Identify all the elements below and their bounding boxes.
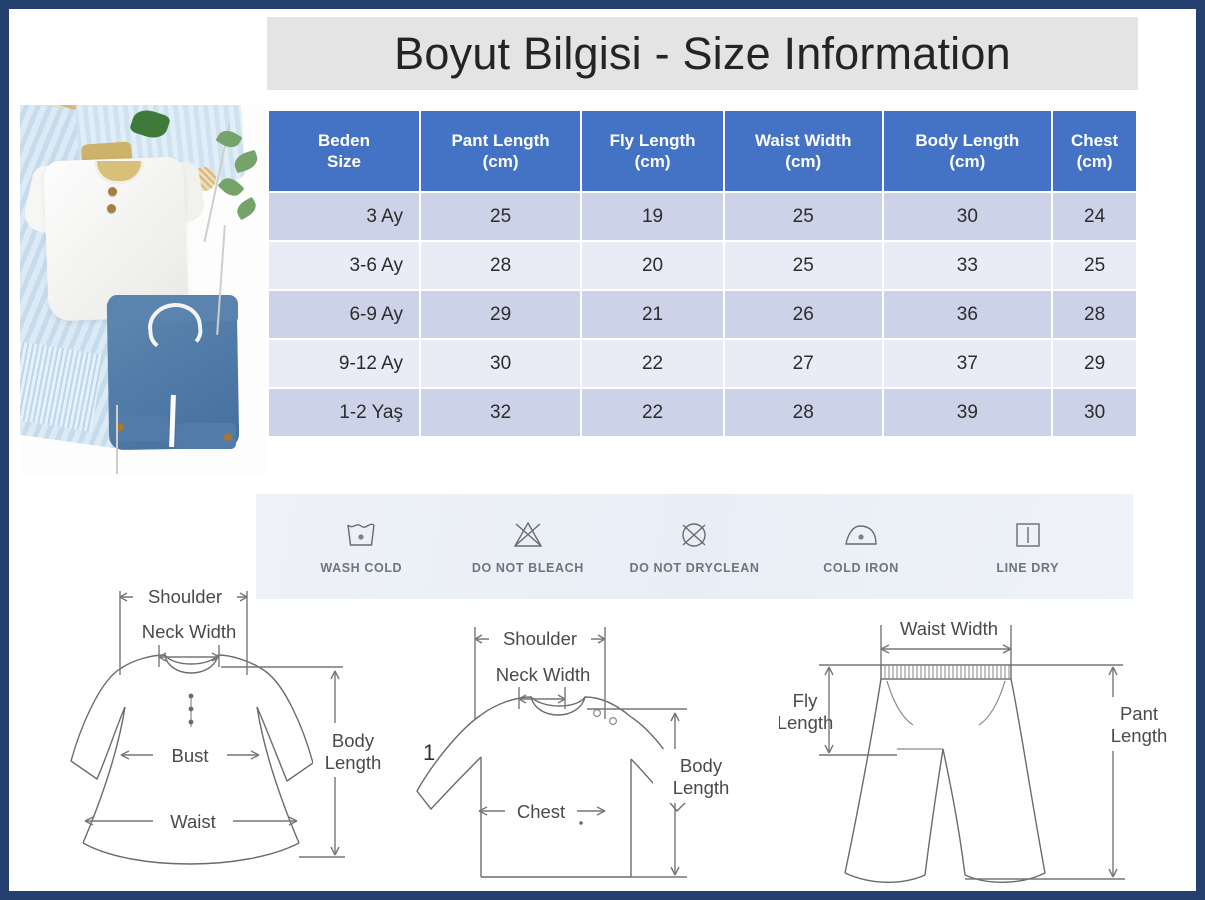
neck-width-dimension: Neck Width [496,664,591,709]
shirt-outline [417,697,693,877]
column-header-chest: Chest (cm) [1053,111,1136,191]
fly-length-dimension: Fly Length [779,665,897,755]
wash-cold-icon [341,518,381,552]
cell-size: 3 Ay [269,193,419,240]
size-chart-page: Boyut Bilgisi - Size Information [9,9,1196,891]
cell-chest: 25 [1053,242,1136,289]
label-body-length-line1: Body [332,730,375,751]
cell-waist-width: 26 [725,291,882,338]
cell-waist-width: 25 [725,193,882,240]
cell-chest: 29 [1053,340,1136,387]
cell-chest: 28 [1053,291,1136,338]
table-row: 3-6 Ay 28 20 25 33 25 [269,242,1136,289]
cell-size: 1-2 Yaş [269,389,419,436]
cell-fly-length: 21 [582,291,723,338]
shorts-button [224,433,232,441]
care-item-do-not-dryclean: DO NOT DRYCLEAN [619,518,769,575]
column-header-body-length: Body Length (cm) [884,111,1052,191]
decor-line [116,405,118,474]
cell-fly-length: 22 [582,389,723,436]
pants-measurement-diagram: Waist Width Fly Length Pant Length [779,607,1191,891]
cell-body-length: 33 [884,242,1052,289]
care-item-wash-cold: WASH COLD [286,518,436,575]
label-neck-width: Neck Width [142,621,237,642]
neck-width-dimension: Neck Width [142,621,237,667]
label-chest: Chest [517,801,565,822]
blanket-fringe [20,340,104,431]
cell-pant-length: 25 [421,193,580,240]
cell-chest: 24 [1053,193,1136,240]
label-bust: Bust [171,745,208,766]
label-body-length-line1: Body [680,755,723,776]
body-length-dimension: Body Length [221,667,395,857]
label-neck-width: Neck Width [496,664,591,685]
pant-length-dimension: Pant Length [965,665,1187,879]
care-label: DO NOT DRYCLEAN [629,561,759,575]
cell-waist-width: 27 [725,340,882,387]
shirt-button [108,187,117,196]
table-row: 6-9 Ay 29 21 26 36 28 [269,291,1136,338]
cell-body-length: 36 [884,291,1052,338]
diagram-marker-1: 1 [423,740,435,766]
cell-pant-length: 30 [421,340,580,387]
dress-measurement-diagram: Shoulder Neck Width Bust Waist [13,575,395,891]
table-row: 9-12 Ay 30 22 27 37 29 [269,340,1136,387]
title-band: Boyut Bilgisi - Size Information [267,17,1138,90]
care-label: LINE DRY [996,561,1059,575]
label-pant-length-line1: Pant [1120,703,1158,724]
label-waist: Waist [170,811,216,832]
cell-pant-length: 29 [421,291,580,338]
bust-dimension: Bust [121,743,259,767]
cell-body-length: 37 [884,340,1052,387]
cell-pant-length: 28 [421,242,580,289]
cell-pant-length: 32 [421,389,580,436]
column-header-pant-length: Pant Length (cm) [421,111,580,191]
care-label: COLD IRON [823,561,899,575]
do-not-bleach-icon [508,518,548,552]
shirt-measurement-diagram: Shoulder Neck Width Chest Body Length [409,609,765,891]
table-header-row: Beden Size Pant Length (cm) Fly Length (… [269,111,1136,191]
chest-dimension: Chest [479,799,605,823]
column-header-waist-width: Waist Width (cm) [725,111,882,191]
cold-iron-icon [840,518,882,552]
waist-dimension: Waist [85,809,297,833]
cell-waist-width: 25 [725,242,882,289]
size-table: Beden Size Pant Length (cm) Fly Length (… [267,109,1138,438]
label-body-length-line2: Length [673,777,730,798]
do-not-dryclean-icon [674,518,714,552]
page-title: Boyut Bilgisi - Size Information [394,28,1011,80]
cell-size: 6-9 Ay [269,291,419,338]
care-label: DO NOT BLEACH [472,561,584,575]
column-header-fly-length: Fly Length (cm) [582,111,723,191]
pants-outline [845,679,1045,882]
cell-body-length: 39 [884,389,1052,436]
waist-width-dimension: Waist Width [881,617,1011,667]
label-waist-width: Waist Width [900,618,998,639]
label-body-length-line2: Length [325,752,382,773]
column-header-beden-size: Beden Size [269,111,419,191]
label-fly-length-line2: Length [779,712,833,733]
body-length-dimension: Body Length [587,709,749,877]
care-item-cold-iron: COLD IRON [786,518,936,575]
cell-chest: 30 [1053,389,1136,436]
cell-size: 3-6 Ay [269,242,419,289]
care-item-do-not-bleach: DO NOT BLEACH [453,518,603,575]
care-label: WASH COLD [320,561,402,575]
label-shoulder: Shoulder [148,586,222,607]
cell-fly-length: 20 [582,242,723,289]
cell-fly-length: 19 [582,193,723,240]
cell-fly-length: 22 [582,340,723,387]
label-pant-length-line2: Length [1111,725,1168,746]
eucalyptus-leaf [234,197,260,220]
shirt-button [107,204,116,213]
cell-waist-width: 28 [725,389,882,436]
pants-waistband [881,665,1011,679]
cell-size: 9-12 Ay [269,340,419,387]
table-row: 1-2 Yaş 32 22 28 39 30 [269,389,1136,436]
table-row: 3 Ay 25 19 25 30 24 [269,193,1136,240]
label-shoulder: Shoulder [503,628,577,649]
product-photo [20,105,266,474]
care-item-line-dry: LINE DRY [953,518,1103,575]
line-dry-icon [1009,518,1047,552]
label-fly-length-line1: Fly [793,690,818,711]
cell-body-length: 30 [884,193,1052,240]
